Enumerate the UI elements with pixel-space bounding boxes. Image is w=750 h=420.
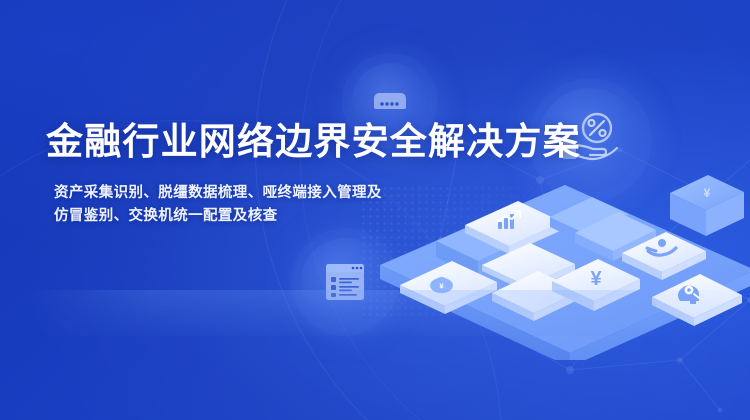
subtitle-line-2: 仿冒鉴别、交换机统一配置及核查 xyxy=(54,205,516,228)
hero-text-block: 金融行业网络边界安全解决方案 资产采集识别、脱缰数据梳理、哑终端接入管理及 仿冒… xyxy=(46,118,516,228)
subtitle-line-1: 资产采集识别、脱缰数据梳理、哑终端接入管理及 xyxy=(54,182,516,205)
banner-root: ¥ ¥ xyxy=(0,0,750,420)
yen-block-icon: ¥ xyxy=(704,186,711,200)
page-title: 金融行业网络边界安全解决方案 xyxy=(46,118,516,166)
yen-symbol-icon: ¥ xyxy=(590,268,602,290)
page-subtitle: 资产采集识别、脱缰数据梳理、哑终端接入管理及 仿冒鉴别、交换机统一配置及核查 xyxy=(46,182,516,228)
